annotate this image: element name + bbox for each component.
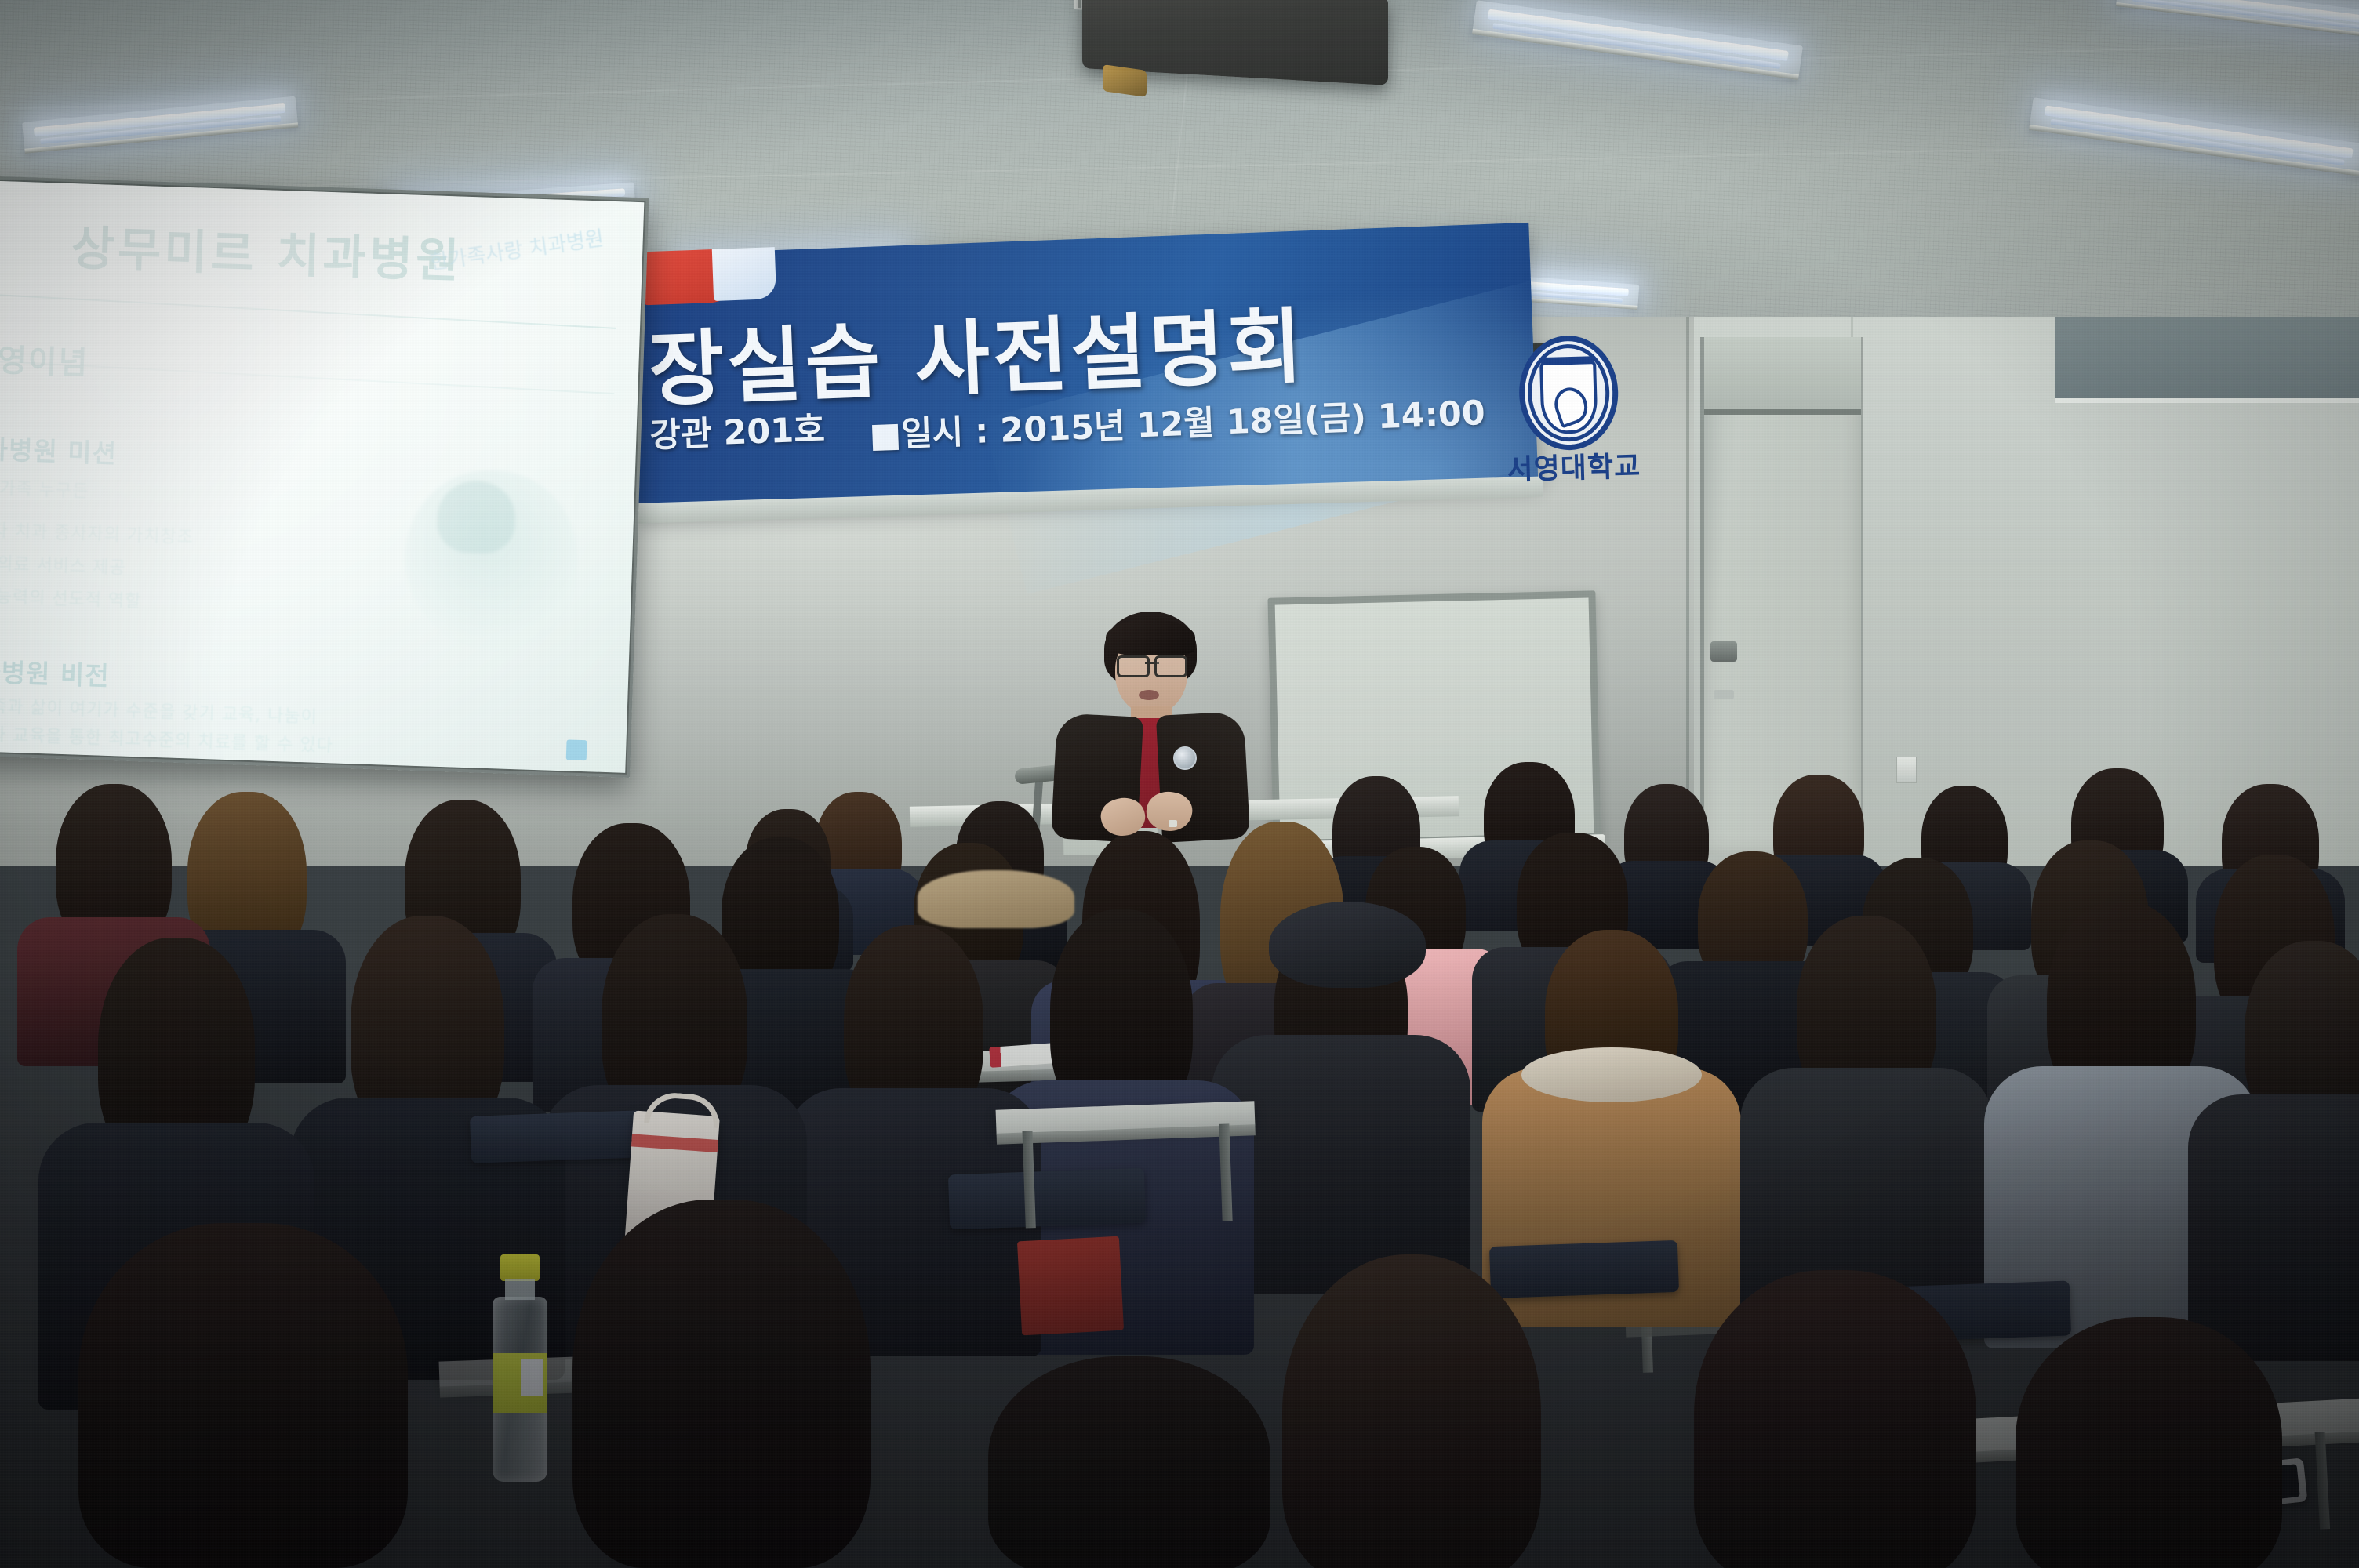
audience-member (1223, 902, 1459, 1270)
wall-corner-seam (1686, 317, 1689, 866)
slide-body-line: 상에 의료 서비스 제공 (0, 548, 126, 579)
audience-member (486, 1200, 957, 1568)
door-transom (1704, 337, 1861, 415)
projection-screen: 상무미르 치과병원 경영이념 치과병원 미션 치과 가족 누구든 어환자 치과 … (0, 176, 649, 778)
university-logo: 서영대학교 (1480, 327, 1665, 504)
slide-heading-mission: 치과병원 미션 (0, 427, 118, 470)
chair-back (948, 1168, 1146, 1230)
audience-member (925, 1356, 1333, 1568)
ring-icon (1169, 820, 1177, 827)
red-bag-under-desk (1017, 1236, 1124, 1336)
brooch-icon (1173, 746, 1197, 770)
banner-accent-shape (712, 247, 776, 301)
ceiling-projector (1082, 0, 1388, 77)
presenter (1043, 612, 1255, 839)
slide-body-line: 치과 가족 누구든 (0, 474, 89, 503)
audience-member (1749, 916, 1984, 1284)
audience-member (1945, 1317, 2353, 1568)
slide-logo-scribble: 한가족사랑 치과병원 (427, 223, 610, 332)
slide-body-line: 문적 능력의 선도적 역할 (0, 581, 142, 612)
slide-title: 상무미르 치과병원 (71, 210, 463, 291)
door-handle[interactable] (1710, 641, 1737, 662)
slide-content: 상무미르 치과병원 경영이념 치과병원 미션 치과 가족 누구든 어환자 치과 … (0, 180, 644, 773)
audience-member (2196, 941, 2359, 1317)
presenter-mouth (1139, 690, 1159, 700)
university-name: 서영대학교 (1483, 443, 1664, 488)
back-window-panel (2055, 317, 2359, 403)
slide-body-line: 연 구와 교육을 통한 최고수준의 치료를 할 수 있다 (0, 719, 333, 757)
door-lock[interactable] (1714, 690, 1734, 699)
slide-corner-logo-icon (566, 739, 587, 760)
slide-heading-vision: 치과병원 비전 (0, 650, 110, 693)
presenter-fringe (1106, 619, 1195, 655)
slide-body-line: 을 가족과 삶이 여기가 수준을 갖기 교육, 나눔이 (0, 691, 318, 728)
banner-room-label: 강관 201호 (649, 402, 826, 457)
classroom-photo: 장실습 사전설명회 강관 201호 ■일시 : 2015년 12월 18일(금)… (0, 0, 2359, 1568)
chair-back (470, 1110, 644, 1163)
beanie-hat (1269, 902, 1426, 988)
university-seal-icon (1518, 334, 1619, 451)
light-switch[interactable] (1896, 757, 1917, 783)
slide-photo (402, 467, 580, 653)
glasses-icon (1117, 655, 1187, 673)
audience-member (0, 1223, 486, 1568)
slide-body-line: 어환자 치과 종사자의 가치창조 (0, 515, 194, 548)
slide-subtitle: 경영이념 (0, 334, 89, 383)
shearling-collar (1521, 1047, 1702, 1102)
event-banner: 장실습 사전설명회 강관 201호 ■일시 : 2015년 12월 18일(금)… (627, 223, 1538, 514)
